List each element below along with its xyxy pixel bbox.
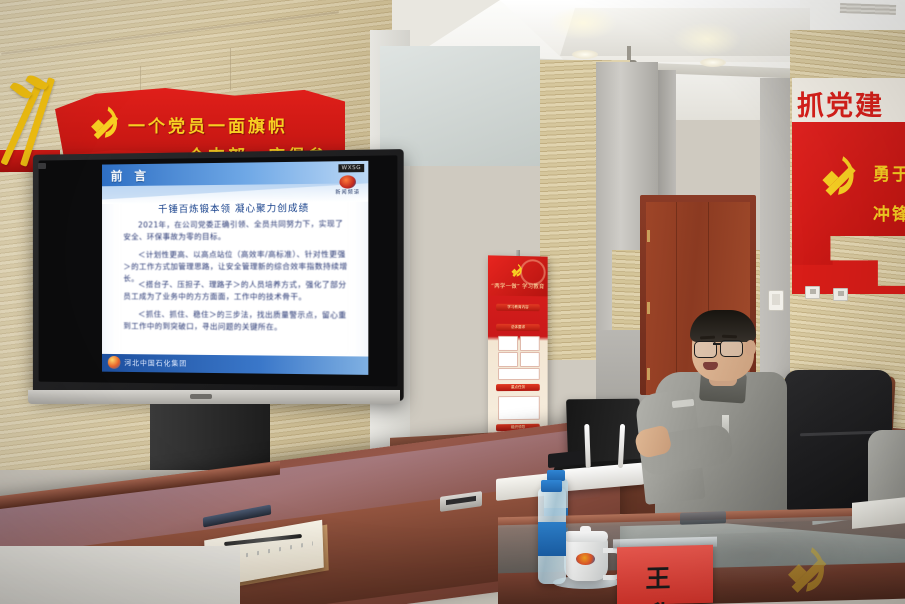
hammer-sickle-icon bbox=[508, 262, 525, 279]
nameplate-text: 王 升 bbox=[617, 545, 713, 604]
wall-panel-upper bbox=[380, 46, 540, 166]
floor bbox=[0, 546, 240, 604]
display-stand-post bbox=[150, 404, 270, 470]
person-mouth bbox=[703, 362, 718, 370]
banner-line1: 勇于 bbox=[873, 160, 905, 185]
display-panel: 前 言 WXSG 新闻频道 千锤百炼锻本领 凝心聚力创成绩 2021年，在公司党… bbox=[39, 155, 398, 386]
watermark-subtext: 新闻频道 bbox=[335, 188, 360, 195]
banner-section-ribbon: 总体要求 bbox=[496, 324, 540, 331]
bottle-cap bbox=[541, 480, 562, 492]
meeting-room-photo: 一个党员一面旗帜 一个支部一座堡垒 抓党建 勇于 冲锋 前 言 WXSG bbox=[0, 0, 905, 604]
banner-content-box bbox=[498, 396, 540, 420]
banner-content-box bbox=[520, 336, 540, 351]
banner-subtitle-ribbon: 学习教育内容 bbox=[496, 304, 540, 312]
wall-switch[interactable] bbox=[805, 286, 820, 299]
banner-content-box bbox=[498, 352, 518, 367]
hammer-sickle-icon bbox=[812, 150, 864, 202]
ceiling-light-glow bbox=[672, 22, 742, 56]
mug-logo-icon bbox=[576, 553, 595, 565]
slide-paragraph: 2021年，在公司党委正确引领、全员共同努力下，实现了安全、环保事故为零的目标。 bbox=[123, 218, 347, 243]
mug-lid-knob bbox=[580, 526, 591, 533]
display-ir-sensor bbox=[38, 163, 46, 169]
banner-content-box bbox=[498, 336, 518, 351]
flag-text-line1: 一个党员一面旗帜 bbox=[128, 112, 288, 137]
eyeglasses-bridge bbox=[713, 343, 721, 345]
slide-paragraph: ＜搭台子、压担子、理路子＞的人员培养方式，强化了部分员工成为了业务中的方方面面，… bbox=[123, 279, 347, 304]
banner-section-ribbon: 重点任务 bbox=[496, 384, 540, 391]
banner-title: “两学一做” 学习教育 bbox=[488, 281, 548, 290]
downlight-icon bbox=[700, 58, 726, 67]
slide-footer-text: 河北中国石化集团 bbox=[124, 358, 187, 369]
slide-title: 千锤百炼锻本领 凝心聚力创成绩 bbox=[102, 200, 368, 216]
person-eyebrow bbox=[722, 335, 737, 338]
object-on-shelf bbox=[680, 511, 726, 525]
eyeglasses-lens bbox=[720, 340, 743, 357]
display-chin-bar bbox=[28, 390, 400, 404]
light-switch[interactable] bbox=[768, 290, 784, 311]
banner-section-label: 重点任务 bbox=[496, 384, 540, 391]
slide-header-text: 前 言 bbox=[111, 167, 150, 184]
banner-section-label: 总体要求 bbox=[496, 324, 540, 331]
wall-switch[interactable] bbox=[833, 288, 848, 301]
desk-nameplate: 王 升 bbox=[617, 545, 713, 604]
display-brand-logo bbox=[190, 394, 212, 399]
banner-content-box bbox=[498, 368, 540, 380]
banner-heading: 抓党建 bbox=[797, 84, 884, 123]
banner-line2: 冲锋 bbox=[873, 200, 905, 225]
door-hinge bbox=[647, 230, 650, 242]
air-vent bbox=[840, 3, 896, 15]
interactive-display[interactable]: 前 言 WXSG 新闻频道 千锤百炼锻本领 凝心聚力创成绩 2021年，在公司党… bbox=[33, 149, 404, 401]
person-ear bbox=[745, 340, 756, 356]
slide-paragraph: ＜抓住、抓住、稳住＞的三步法，找出质量警示点，留心重到工作中的到突破口，寻出问题… bbox=[123, 309, 347, 334]
hammer-sickle-icon bbox=[80, 100, 126, 146]
ceiling-light-glow bbox=[548, 6, 618, 40]
banner-top-graphic: “两学一做” 学习教育 bbox=[488, 255, 548, 296]
banner-content-box bbox=[520, 352, 540, 367]
door-hinge bbox=[647, 368, 650, 380]
presentation-slide: 前 言 WXSG 新闻频道 千锤百炼锻本领 凝心聚力创成绩 2021年，在公司党… bbox=[102, 161, 368, 375]
banner-subtitle: 学习教育内容 bbox=[496, 304, 540, 312]
company-logo-icon bbox=[108, 356, 121, 369]
bottle-label bbox=[538, 522, 566, 556]
downlight-icon bbox=[572, 50, 598, 59]
door-hinge bbox=[647, 302, 650, 314]
papers-right-edge bbox=[852, 497, 905, 529]
hammer-sickle-reflection-icon bbox=[766, 540, 846, 600]
slide-watermark: WXSG bbox=[338, 164, 364, 172]
